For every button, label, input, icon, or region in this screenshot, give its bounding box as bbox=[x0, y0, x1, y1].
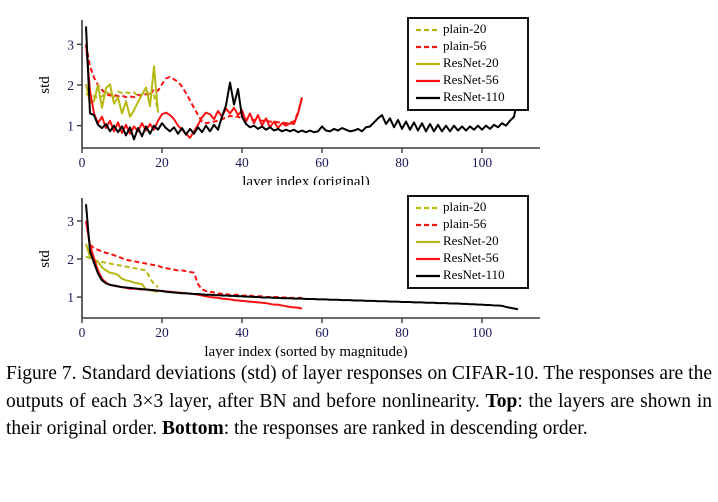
x-tick-label: 80 bbox=[395, 325, 409, 340]
series-line-resnet-20 bbox=[86, 66, 158, 116]
x-tick-label: 80 bbox=[395, 155, 409, 170]
chart-top-render: 123020406080100stdlayer index (original)… bbox=[37, 18, 540, 185]
caption-bottom-keyword: Bottom bbox=[162, 418, 224, 439]
x-tick-label: 100 bbox=[472, 325, 493, 340]
legend-label-resnet-56: ResNet-56 bbox=[443, 250, 499, 265]
legend-label-plain-56: plain-56 bbox=[443, 38, 487, 53]
x-tick-label: 0 bbox=[79, 325, 86, 340]
y-tick-label: 1 bbox=[67, 119, 74, 134]
chart-top-svg: 123020406080100stdlayer index (original)… bbox=[0, 0, 718, 185]
x-tick-label: 20 bbox=[155, 325, 169, 340]
x-tick-label: 60 bbox=[315, 325, 329, 340]
y-tick-label: 2 bbox=[67, 78, 74, 93]
y-tick-label: 3 bbox=[67, 214, 74, 229]
x-tick-label: 40 bbox=[235, 325, 249, 340]
y-axis-title: std bbox=[37, 76, 53, 94]
legend-label-plain-20: plain-20 bbox=[443, 21, 486, 36]
x-tick-label: 20 bbox=[155, 155, 169, 170]
y-tick-label: 3 bbox=[67, 37, 74, 52]
legend-label-resnet-20: ResNet-20 bbox=[443, 233, 499, 248]
legend-label-resnet-56: ResNet-56 bbox=[443, 72, 499, 87]
x-axis-title: layer index (sorted by magnitude) bbox=[204, 344, 407, 358]
y-tick-label: 2 bbox=[67, 252, 74, 267]
legend-label-resnet-110: ResNet-110 bbox=[443, 267, 505, 282]
figure-caption: Figure 7. Standard deviations (std) of l… bbox=[6, 360, 712, 443]
legend-label-plain-20: plain-20 bbox=[443, 199, 486, 214]
caption-top-keyword: Top bbox=[486, 391, 518, 412]
caption-body-3: : the responses are ranked in descending… bbox=[224, 418, 588, 439]
x-tick-label: 40 bbox=[235, 155, 249, 170]
x-tick-label: 0 bbox=[79, 155, 86, 170]
chart-bottom-render: 123020406080100stdlayer index (sorted by… bbox=[37, 196, 540, 358]
chart-top-original-order: 123020406080100stdlayer index (original)… bbox=[0, 0, 718, 185]
chart-bottom-svg: 123020406080100stdlayer index (sorted by… bbox=[0, 178, 718, 358]
legend-label-plain-56: plain-56 bbox=[443, 216, 487, 231]
caption-figure-number: Figure 7. bbox=[6, 363, 77, 384]
legend-label-resnet-110: ResNet-110 bbox=[443, 89, 505, 104]
series-line-plain-56 bbox=[86, 44, 302, 123]
legend-label-resnet-20: ResNet-20 bbox=[443, 55, 499, 70]
x-tick-label: 60 bbox=[315, 155, 329, 170]
x-tick-label: 100 bbox=[472, 155, 493, 170]
y-axis-title: std bbox=[37, 250, 53, 268]
y-tick-label: 1 bbox=[67, 290, 74, 305]
chart-bottom-sorted-order: 123020406080100stdlayer index (sorted by… bbox=[0, 178, 718, 358]
figure-page: 123020406080100stdlayer index (original)… bbox=[0, 0, 718, 502]
